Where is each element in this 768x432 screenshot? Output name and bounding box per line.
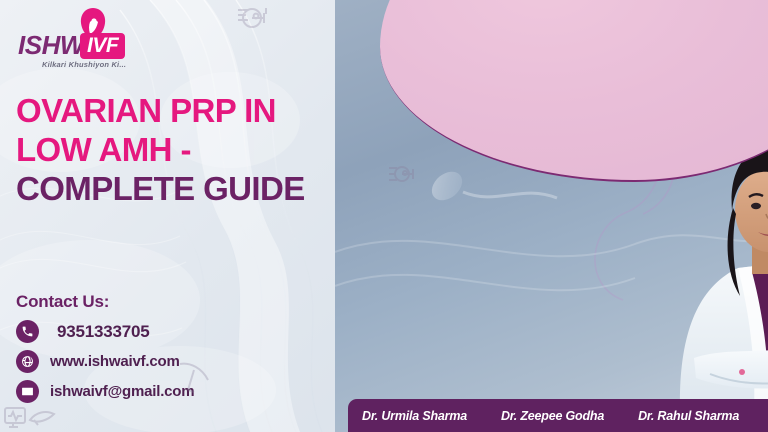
envelope-icon xyxy=(16,380,39,403)
contact-phone-row[interactable]: 9351333705 xyxy=(16,320,336,343)
title-line-2: LOW AMH - xyxy=(16,131,346,170)
microscope-icon xyxy=(388,162,422,186)
globe-icon xyxy=(16,350,39,373)
poster-canvas: DR. ZEEPEE CON. GYNAE xyxy=(0,0,768,432)
doctor-name-1: Dr. Urmila Sharma xyxy=(362,409,467,423)
title-line-3: COMPLETE GUIDE xyxy=(16,170,346,209)
email-address: ishwaivf@gmail.com xyxy=(50,383,194,400)
website-url: www.ishwaivf.com xyxy=(50,353,180,370)
brand-tagline: Kilkari Khushiyon Ki... xyxy=(42,60,126,69)
pick-tool-icon xyxy=(176,360,214,394)
medical-device-icon xyxy=(236,2,276,30)
doctor-name-2: Dr. Zeepee Godha xyxy=(501,409,604,423)
page-title: OVARIAN PRP IN LOW AMH - COMPLETE GUIDE xyxy=(16,92,346,209)
phone-icon xyxy=(16,320,39,343)
contact-heading: Contact Us: xyxy=(16,292,336,312)
brand-logo[interactable]: ISHWA IVF Kilkari Khushiyon Ki... xyxy=(18,6,143,72)
ecg-monitor-icon xyxy=(4,404,56,430)
doctor-names-banner: Dr. Urmila Sharma Dr. Zeepee Godha Dr. R… xyxy=(348,399,768,432)
brand-badge: IVF xyxy=(80,33,125,59)
phone-number: 9351333705 xyxy=(57,322,150,342)
doctor-name-3: Dr. Rahul Sharma xyxy=(638,409,739,423)
title-line-1: OVARIAN PRP IN xyxy=(16,92,346,131)
